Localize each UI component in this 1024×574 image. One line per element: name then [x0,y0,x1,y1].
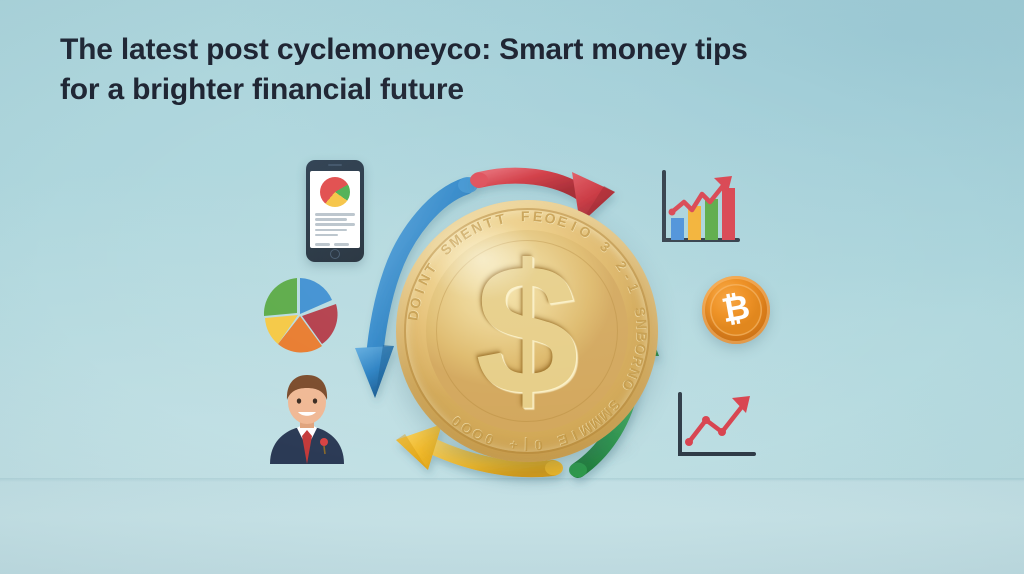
data-point [718,428,726,436]
headline-line-1: The latest post cyclemoneyco: Smart mone… [60,33,748,66]
text-line [315,218,347,221]
phone-speaker [328,164,342,166]
bar [671,218,684,240]
dollar-sign: $ [396,238,658,424]
background-floor [0,480,1024,574]
phone-screen [310,171,360,248]
phone-text-lines [315,213,355,239]
businessman-avatar [264,370,350,464]
bar [705,199,718,240]
bitcoin-coin-icon: ₿ [702,276,770,344]
phone-pie-chart-icon [320,177,350,207]
phone-home-button [330,249,340,259]
data-point [702,416,710,424]
text-line [315,213,355,216]
infographic-banner: The latest post cyclemoneyco: Smart mone… [0,0,1024,574]
bitcoin-inner-disc: ₿ [710,284,762,336]
headline-line-2: for a brighter financial future [60,73,464,106]
line-chart-growth-icon [670,390,760,464]
trend-line [685,396,750,446]
text-line [315,223,355,226]
avatar-eye [297,398,301,403]
text-line [315,229,347,232]
background-horizon-line [0,478,1024,482]
page-title: The latest post cyclemoneyco: Smart mone… [60,30,900,109]
avatar-eye [313,398,317,403]
bar [722,188,735,240]
avatar-lapel-pin [320,438,328,446]
gold-dollar-coin: DOINTSMENTTFEOEIO32-1SNBORNOSMMMIE0|+0OO… [396,200,658,462]
legend-chip [315,243,330,246]
bitcoin-symbol: ₿ [719,290,752,328]
coin-body: DOINTSMENTTFEOEIO32-1SNBORNOSMMMIE0|+0OO… [396,200,658,462]
data-point [685,438,693,446]
smartphone-report-icon [306,160,364,262]
pie-slices [264,278,338,353]
legend-chip [334,243,349,246]
bar-chart-growth-icon [654,168,742,248]
text-line [315,234,338,237]
pie-chart-icon [256,274,344,354]
phone-legend-chips [315,243,349,246]
avatar-pin-stem [324,446,325,454]
